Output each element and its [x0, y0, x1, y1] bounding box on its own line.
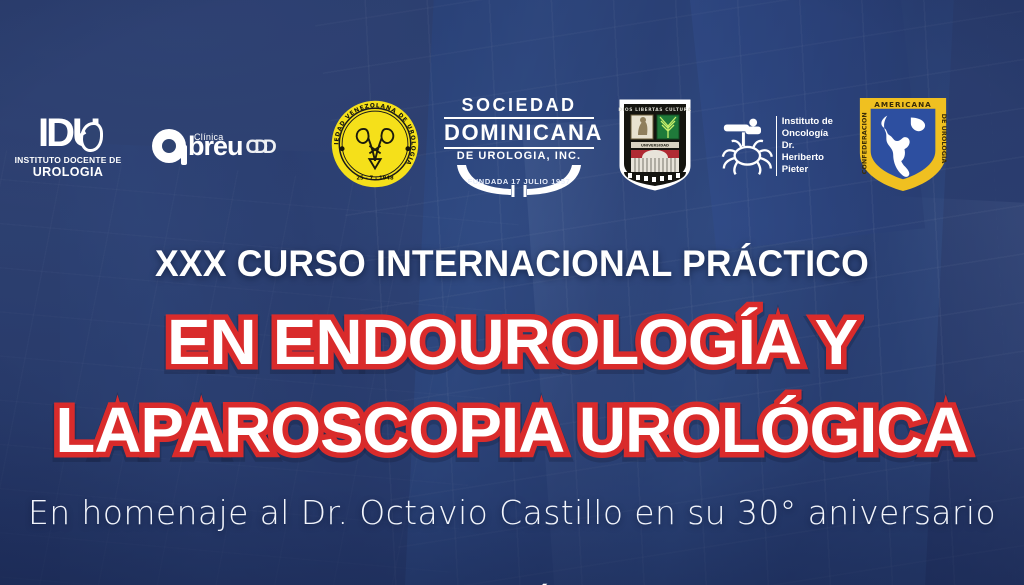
headline-line-1: EN ENDOUROLOGÍA Y: [0, 305, 1024, 379]
onco-line-2: Oncología: [782, 128, 838, 140]
sdu-wings-icon: FUNDADA 17 JULIO 1957: [444, 163, 594, 197]
logo-universidad-crest: DIOS LIBERTAS CULTURA UNIVERSIDAD: [616, 96, 696, 197]
logo-sociedad-venezolana-de-urologia: SOCIEDAD VENEZOLANA DE UROLOGIA 25 - 7 -…: [328, 97, 422, 196]
headline-line-2: LAPAROSCOPIA UROLÓGICA: [0, 393, 1024, 467]
logo-instituto-docente-de-urologia: IDU INSTITUTO DOCENTE DE UROLOGIA: [8, 114, 128, 179]
university-crest-icon: DIOS LIBERTAS CULTURA UNIVERSIDAD: [616, 96, 694, 192]
abreu-a-mark-icon: [152, 129, 186, 163]
sponsor-logo-strip: IDU INSTITUTO DOCENTE DE UROLOGIA Clínic…: [0, 86, 1024, 206]
svg-text:DE UROLOGIA: DE UROLOGIA: [940, 113, 948, 163]
sdu-line-2: DOMINICANA: [444, 117, 594, 149]
crab-microscope-icon: [718, 112, 773, 180]
svg-text:UNIVERSIDAD: UNIVERSIDAD: [641, 143, 669, 147]
onco-line-3: Dr. Heriberto: [782, 140, 838, 164]
onco-line-1: Instituto de: [782, 116, 838, 128]
kidney-icon: [80, 122, 103, 152]
onco-line-4: Pieter: [782, 164, 838, 176]
abreu-wordmark: Clínica breuCDD: [188, 133, 272, 160]
logo-clinica-abreu: Clínica breuCDD: [152, 129, 302, 163]
sdu-line-1: SOCIEDAD: [444, 95, 594, 116]
logo-confederacion-americana-de-urologia: AMERICANA CONFEDERACION DE UROLOGIA: [854, 92, 958, 201]
sdu-founded-text: FUNDADA 17 JULIO 1957: [444, 177, 594, 186]
svg-text:AMERICANA: AMERICANA: [874, 99, 932, 108]
abreu-clinica-label: Clínica: [194, 132, 224, 142]
sdu-line-3: DE UROLOGIA, INC.: [444, 150, 594, 162]
oncologia-wordmark: Instituto de Oncología Dr. Heriberto Pie…: [776, 116, 838, 175]
idu-monogram: IDU: [38, 114, 98, 152]
logo-instituto-de-oncologia: Instituto de Oncología Dr. Heriberto Pie…: [718, 112, 838, 180]
bottom-cut-location-text: Santo Domingo, República Dominicana: [0, 581, 1024, 585]
svg-text:CONFEDERACION: CONFEDERACION: [861, 112, 869, 174]
svu-seal-icon: SOCIEDAD VENEZOLANA DE UROLOGIA 25 - 7 -…: [328, 97, 422, 191]
svg-text:DIOS LIBERTAS CULTURA: DIOS LIBERTAS CULTURA: [618, 106, 691, 112]
idu-line-1: INSTITUTO DOCENTE DE: [8, 155, 128, 165]
logo-sociedad-dominicana-de-urologia: SOCIEDAD DOMINICANA DE UROLOGIA, INC. FU…: [444, 95, 594, 197]
cdd-mark: CDD: [246, 137, 272, 159]
event-poster: IDU INSTITUTO DOCENTE DE UROLOGIA Clínic…: [0, 0, 1024, 585]
homage-subtitle: En homenaje al Dr. Octavio Castillo en s…: [0, 493, 1024, 532]
idu-line-2: UROLOGIA: [8, 165, 128, 179]
course-kicker: XXX CURSO INTERNACIONAL PRÁCTICO: [20, 243, 1003, 285]
svg-text:25 - 7 - 1948: 25 - 7 - 1948: [356, 175, 394, 181]
cau-shield-icon: AMERICANA CONFEDERACION DE UROLOGIA: [854, 92, 952, 196]
